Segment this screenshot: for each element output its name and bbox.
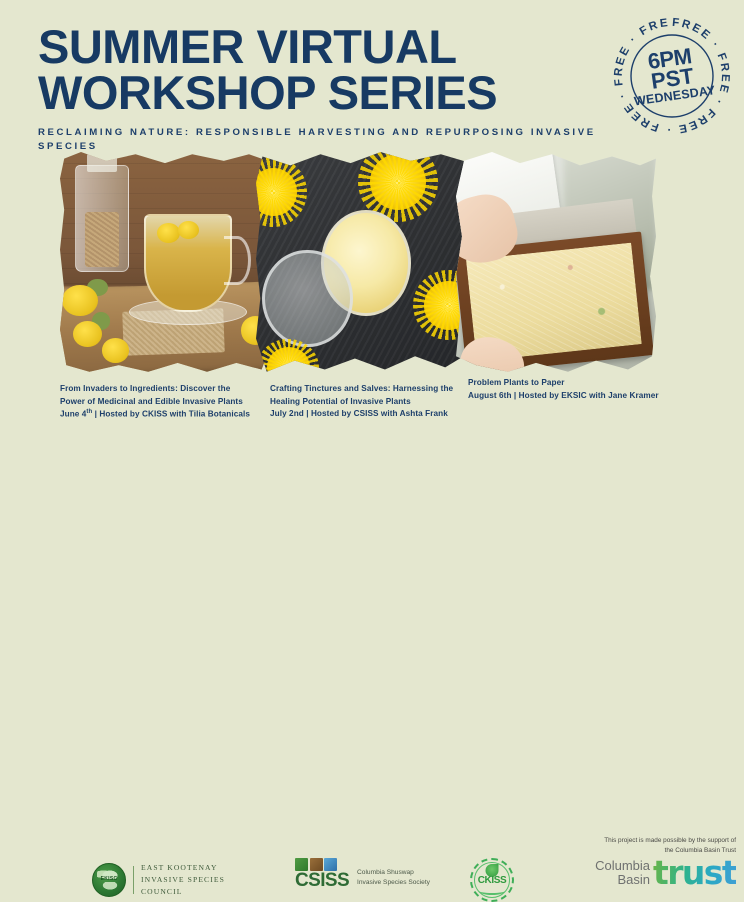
session-1-title: From Invaders to Ingredients: Discover t… — [60, 384, 243, 406]
leaf-tile-icon — [295, 858, 308, 871]
csiss-name: Columbia Shuswap Invasive Species Societ… — [357, 868, 430, 890]
cbt-wordmark: Columbia Basin — [595, 859, 650, 887]
footer-logos: EKISC EAST KOOTENAY INVASIVE SPECIES COU… — [0, 422, 744, 484]
csiss-line-2: Invasive Species Society — [357, 878, 430, 888]
photo-strip — [0, 152, 744, 374]
divider — [133, 866, 134, 894]
logo-csiss: CSISS Columbia Shuswap Invasive Species … — [295, 858, 430, 890]
cbt-trust-wordmark: trust — [653, 859, 736, 887]
logo-ckiss: CKISS — [470, 858, 514, 902]
ckiss-arc-icon — [479, 887, 505, 895]
ekisc-name: EAST KOOTENAY INVASIVE SPECIES COUNCIL — [141, 862, 225, 897]
session-3-host: | Hosted by EKSIC with Jane Kramer — [512, 391, 659, 400]
ekisc-line-2: INVASIVE SPECIES — [141, 874, 225, 886]
page-title: SUMMER VIRTUAL WORKSHOP SERIES — [38, 24, 598, 116]
session-caption-2: Crafting Tinctures and Salves: Harnessin… — [270, 383, 460, 421]
cbt-word-columbia: Columbia — [595, 859, 650, 873]
csiss-tiles-icon — [295, 858, 349, 871]
logo-ekisc: EKISC EAST KOOTENAY INVASIVE SPECIES COU… — [92, 862, 225, 897]
wildlife-tile-icon — [310, 858, 323, 871]
session-photo-3 — [456, 152, 656, 374]
ekisc-abbr: EKISC — [93, 876, 125, 882]
session-3-title: Problem Plants to Paper — [468, 378, 564, 387]
session-2-host: | Hosted by CSISS with Ashta Frank — [304, 409, 448, 418]
session-3-date: August 6th — [468, 391, 512, 400]
cbt-note-line-1: This project is made possible by the sup… — [580, 836, 736, 846]
ckiss-wordmark: CKISS — [470, 875, 514, 886]
badge-center: 6PM PST WEDNESDAY — [602, 6, 742, 146]
cbt-word-basin: Basin — [595, 873, 650, 887]
cbt-support-note: This project is made possible by the sup… — [580, 836, 736, 855]
session-photo-2 — [256, 152, 471, 374]
cbt-note-line-2: the Columbia Basin Trust — [580, 846, 736, 856]
ekisc-line-1: EAST KOOTENAY — [141, 862, 225, 874]
page-subtitle: Reclaiming Nature: Responsible Harvestin… — [38, 126, 648, 154]
ekisc-line-3: COUNCIL — [141, 886, 225, 898]
ekisc-emblem-icon: EKISC — [92, 863, 126, 897]
badge-day: WEDNESDAY — [633, 84, 716, 108]
title-line-2: WORKSHOP SERIES — [38, 70, 598, 116]
water-tile-icon — [324, 858, 337, 871]
poster-canvas: SUMMER VIRTUAL WORKSHOP SERIES Reclaimin… — [0, 0, 744, 484]
session-photo-1 — [60, 152, 270, 374]
session-1-date: June 4 — [60, 410, 86, 419]
session-caption-1: From Invaders to Ingredients: Discover t… — [60, 383, 255, 422]
session-caption-3: Problem Plants to Paper August 6th | Hos… — [468, 377, 688, 402]
title-line-1: SUMMER VIRTUAL — [38, 24, 598, 70]
logo-columbia-basin-trust: This project is made possible by the sup… — [580, 836, 736, 887]
csiss-line-1: Columbia Shuswap — [357, 868, 430, 878]
session-1-host: | Hosted by CKISS with Tilia Botanicals — [92, 410, 250, 419]
csiss-wordmark: CSISS — [295, 872, 349, 890]
session-2-title: Crafting Tinctures and Salves: Harnessin… — [270, 384, 453, 406]
free-badge: FREE · FREE · FREE · FREE · FREE · FREE … — [610, 14, 734, 138]
session-2-date: July 2nd — [270, 409, 304, 418]
